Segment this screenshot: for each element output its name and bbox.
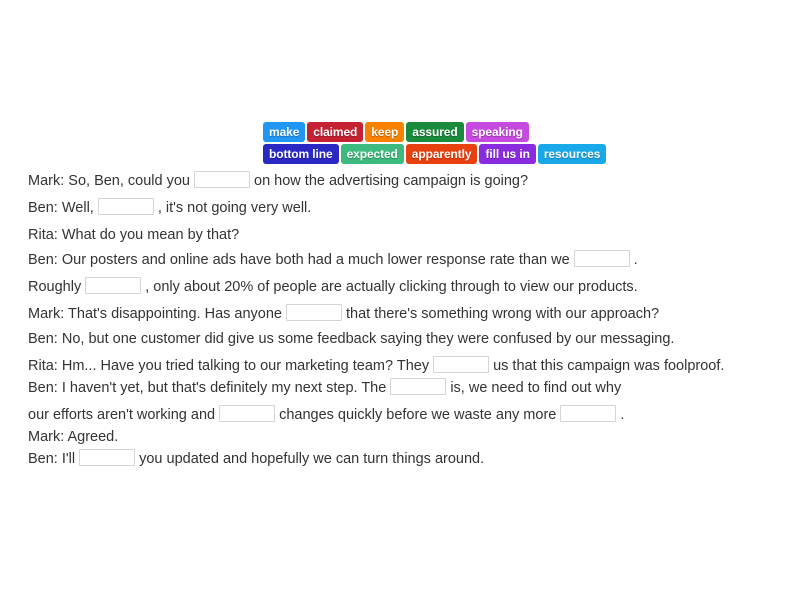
dialogue-text-segment: Mark: Agreed.	[28, 429, 118, 445]
dialogue-line: our efforts aren't working andchanges qu…	[28, 404, 788, 426]
word-bank-row: makeclaimedkeepassuredspeaking	[263, 122, 606, 142]
tile-bottom-line[interactable]: bottom line	[263, 144, 339, 164]
word-bank-row: bottom lineexpectedapparentlyfill us inr…	[263, 144, 606, 164]
dialogue-text-segment: Rita: Hm... Have you tried talking to ou…	[28, 358, 429, 374]
dialogue-text: Mark: So, Ben, could youon how the adver…	[28, 170, 788, 470]
blank-10[interactable]	[79, 449, 135, 466]
dialogue-line: Ben: I'llyou updated and hopefully we ca…	[28, 448, 788, 470]
dialogue-text-segment: Ben: I haven't yet, but that's definitel…	[28, 380, 386, 396]
dialogue-text-segment: changes quickly before we waste any more	[279, 407, 556, 423]
dialogue-text-segment: , it's not going very well.	[158, 200, 311, 216]
dialogue-text-segment: our efforts aren't working and	[28, 407, 215, 423]
tile-speaking[interactable]: speaking	[466, 122, 529, 142]
dialogue-line: Roughly, only about 20% of people are ac…	[28, 276, 788, 298]
dialogue-text-segment: is, we need to find out why	[450, 380, 621, 396]
dialogue-line: Ben: Well,, it's not going very well.	[28, 197, 788, 219]
dialogue-line: Ben: Our posters and online ads have bot…	[28, 249, 788, 271]
dialogue-line: Ben: No, but one customer did give us so…	[28, 328, 788, 350]
blank-4[interactable]	[85, 277, 141, 294]
dialogue-text-segment: you updated and hopefully we can turn th…	[139, 451, 484, 467]
dialogue-line: Rita: Hm... Have you tried talking to ou…	[28, 355, 788, 377]
tile-apparently[interactable]: apparently	[406, 144, 478, 164]
word-bank: makeclaimedkeepassuredspeakingbottom lin…	[263, 122, 606, 164]
blank-5[interactable]	[286, 304, 342, 321]
blank-7[interactable]	[390, 378, 446, 395]
tile-resources[interactable]: resources	[538, 144, 606, 164]
dialogue-line: Mark: So, Ben, could youon how the adver…	[28, 170, 788, 192]
dialogue-text-segment: Mark: So, Ben, could you	[28, 173, 190, 189]
dialogue-text-segment: .	[620, 407, 624, 423]
dialogue-text-segment: Rita: What do you mean by that?	[28, 227, 239, 243]
dialogue-line: Rita: What do you mean by that?	[28, 224, 788, 246]
dialogue-text-segment: Roughly	[28, 279, 81, 295]
blank-1[interactable]	[194, 171, 250, 188]
blank-2[interactable]	[98, 198, 154, 215]
dialogue-text-segment: us that this campaign was foolproof.	[493, 358, 724, 374]
dialogue-line: Mark: Agreed.	[28, 426, 788, 448]
tile-assured[interactable]: assured	[406, 122, 463, 142]
tile-expected[interactable]: expected	[341, 144, 404, 164]
dialogue-text-segment: on how the advertising campaign is going…	[254, 173, 528, 189]
tile-make[interactable]: make	[263, 122, 305, 142]
blank-9[interactable]	[560, 405, 616, 422]
tile-claimed[interactable]: claimed	[307, 122, 363, 142]
dialogue-text-segment: .	[634, 252, 638, 268]
dialogue-text-segment: Mark: That's disappointing. Has anyone	[28, 306, 282, 322]
dialogue-text-segment: Ben: Well,	[28, 200, 94, 216]
tile-keep[interactable]: keep	[365, 122, 404, 142]
dialogue-text-segment: Ben: Our posters and online ads have bot…	[28, 252, 570, 268]
blank-3[interactable]	[574, 250, 630, 267]
dialogue-line: Mark: That's disappointing. Has anyoneth…	[28, 303, 788, 325]
dialogue-text-segment: , only about 20% of people are actually …	[145, 279, 637, 295]
blank-6[interactable]	[433, 356, 489, 373]
dialogue-text-segment: Ben: I'll	[28, 451, 75, 467]
dialogue-line: Ben: I haven't yet, but that's definitel…	[28, 377, 788, 399]
blank-8[interactable]	[219, 405, 275, 422]
dialogue-text-segment: that there's something wrong with our ap…	[346, 306, 659, 322]
tile-fill-us-in[interactable]: fill us in	[479, 144, 535, 164]
dialogue-text-segment: Ben: No, but one customer did give us so…	[28, 331, 674, 347]
